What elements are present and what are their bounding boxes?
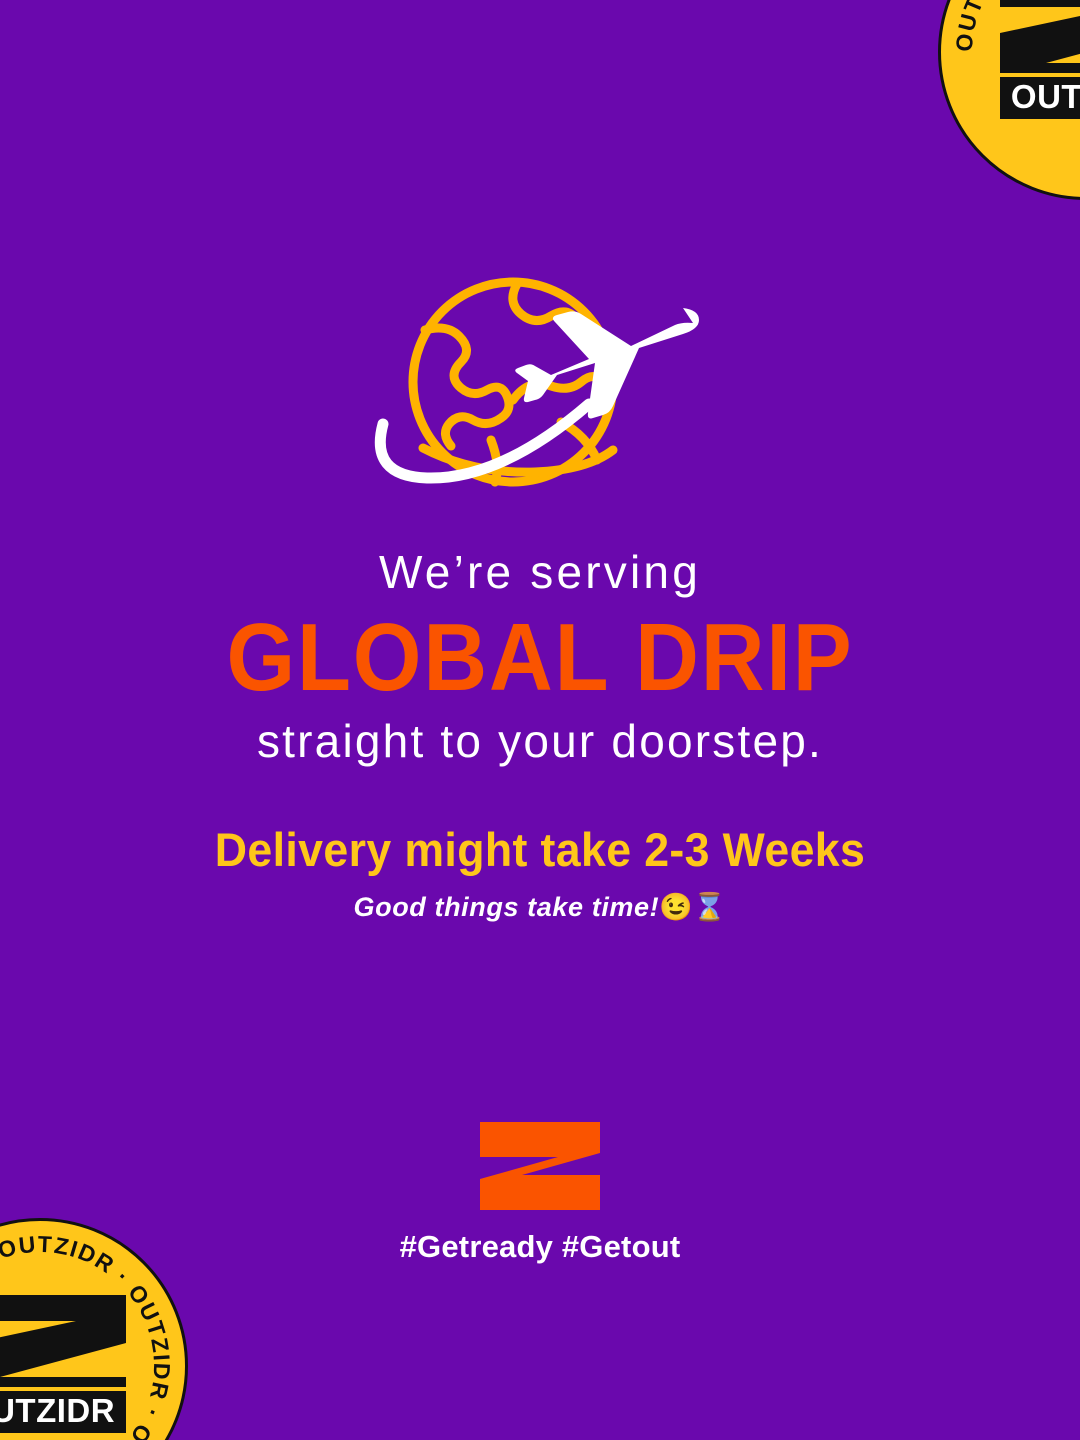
footer-block: #Getready #Getout <box>0 1122 1080 1265</box>
brand-logo-z <box>480 1122 600 1210</box>
brand-seal-top-right: OUTZIDR · OUTZIDR · OUTZIDR · OUTZIDR · … <box>938 0 1080 200</box>
headline-hero: GLOBAL DRIP <box>43 610 1037 706</box>
globe-airplane-illustration <box>0 272 1080 502</box>
seal-wordmark-text: OUTZIDR <box>0 1392 115 1429</box>
seal-core-mark: OUTZIDR <box>0 1291 132 1440</box>
airplane-icon <box>515 308 699 418</box>
seal-wordmark-text: OUTZIDR <box>1011 78 1080 115</box>
delivery-headline: Delivery might take 2-3 Weeks <box>27 822 1053 877</box>
poster-canvas: OUTZIDR · OUTZIDR · OUTZIDR · OUTZIDR · … <box>0 0 1080 1440</box>
seal-core-logo: OUTZIDR <box>994 0 1080 127</box>
seal-z-glyph <box>0 1295 126 1387</box>
seal-core-logo: OUTZIDR <box>0 1291 132 1440</box>
headline-sub: straight to your doorstep. <box>0 716 1080 767</box>
globe-icon <box>365 272 715 502</box>
delivery-note-emoji: 😉⌛ <box>659 892 726 922</box>
headline-block: We’re serving GLOBAL DRIP straight to yo… <box>0 548 1080 767</box>
delivery-note-text: Good things take time! <box>354 892 660 922</box>
delivery-block: Delivery might take 2-3 Weeks Good thing… <box>0 822 1080 923</box>
headline-kicker: We’re serving <box>0 548 1080 596</box>
z-logo-icon <box>480 1122 600 1210</box>
seal-core-mark: OUTZIDR <box>994 0 1080 127</box>
delivery-note: Good things take time!😉⌛ <box>0 891 1080 923</box>
airplane-body <box>515 308 699 418</box>
z-logo-shape <box>480 1122 600 1210</box>
seal-z-glyph <box>1000 0 1080 73</box>
footer-tagline: #Getready #Getout <box>0 1229 1080 1265</box>
